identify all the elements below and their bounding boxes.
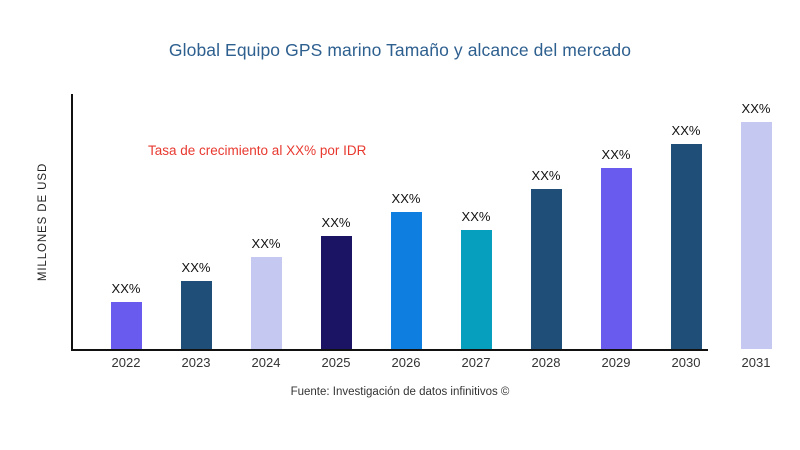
bar-2023[interactable]: XX%: [181, 281, 212, 349]
bar-chart-figure: Global Equipo GPS marino Tamaño y alcanc…: [0, 0, 800, 450]
bar-value-label-2026: XX%: [392, 191, 421, 206]
bar-value-label-2024: XX%: [252, 236, 281, 251]
x-tick-2024: 2024: [231, 355, 301, 370]
x-axis-line: [71, 349, 708, 351]
bar-value-label-2028: XX%: [532, 168, 561, 183]
bar-value-label-2023: XX%: [182, 260, 211, 275]
bar-value-label-2030: XX%: [672, 123, 701, 138]
bar-2022[interactable]: XX%: [111, 302, 142, 349]
x-tick-2028: 2028: [511, 355, 581, 370]
x-tick-2029: 2029: [581, 355, 651, 370]
x-tick-2026: 2026: [371, 355, 441, 370]
bar-2031[interactable]: XX%: [741, 122, 772, 349]
bar-value-label-2027: XX%: [462, 209, 491, 224]
bar-value-label-2022: XX%: [112, 281, 141, 296]
bar-2024[interactable]: XX%: [251, 257, 282, 349]
x-tick-2030: 2030: [651, 355, 721, 370]
source-note: Fuente: Investigación de datos infinitiv…: [0, 386, 800, 398]
bar-2026[interactable]: XX%: [391, 212, 422, 349]
x-tick-2025: 2025: [301, 355, 371, 370]
x-tick-2031: 2031: [721, 355, 791, 370]
bar-value-label-2031: XX%: [742, 101, 771, 116]
x-axis-tick-labels: 2022202320242025202620272028202920302031: [71, 355, 780, 377]
x-tick-2027: 2027: [441, 355, 511, 370]
bar-2028[interactable]: XX%: [531, 189, 562, 349]
plot-area: XX%XX%XX%XX%XX%XX%XX%XX%XX%XX%: [71, 94, 780, 350]
bar-value-label-2029: XX%: [602, 147, 631, 162]
x-tick-2022: 2022: [91, 355, 161, 370]
chart-title: Global Equipo GPS marino Tamaño y alcanc…: [0, 40, 800, 61]
bar-2027[interactable]: XX%: [461, 230, 492, 349]
bar-value-label-2025: XX%: [322, 215, 351, 230]
growth-rate-annotation: Tasa de crecimiento al XX% por IDR: [148, 143, 366, 158]
y-axis-line: [71, 94, 73, 350]
x-tick-2023: 2023: [161, 355, 231, 370]
y-axis-label: MILLONES DE USD: [37, 92, 49, 352]
bar-2030[interactable]: XX%: [671, 144, 702, 349]
bar-2029[interactable]: XX%: [601, 168, 632, 349]
bar-2025[interactable]: XX%: [321, 236, 352, 349]
